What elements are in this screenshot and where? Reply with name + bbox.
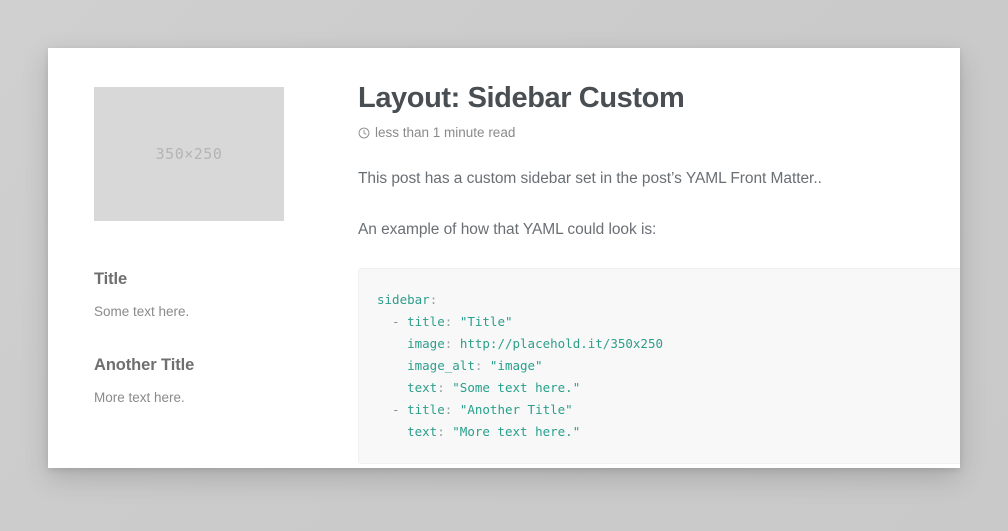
code-line: image_alt: "image" — [377, 355, 960, 377]
sidebar-image-placeholder-label: 350×250 — [156, 145, 223, 163]
code-token-dash: - — [377, 402, 407, 417]
code-token-key: title — [407, 402, 445, 417]
sidebar-block-text: More text here. — [94, 388, 304, 408]
code-line: - title: "Title" — [377, 311, 960, 333]
code-line: text: "Some text here." — [377, 377, 960, 399]
code-token-punct: : — [475, 358, 490, 373]
code-block: sidebar: - title: "Title" image: http://… — [358, 268, 960, 464]
code-token-dash: - — [377, 314, 407, 329]
code-token-string: "Another Title" — [460, 402, 573, 417]
code-token-dash — [377, 424, 407, 439]
article-meta: less than 1 minute read — [358, 125, 960, 140]
code-line: text: "More text here." — [377, 421, 960, 443]
code-token-dash — [377, 380, 407, 395]
code-token-string: "Title" — [460, 314, 513, 329]
code-token-dash — [377, 336, 407, 351]
code-token-key: sidebar — [377, 292, 430, 307]
code-line: image: http://placehold.it/350x250 — [377, 333, 960, 355]
page-content: 350×250 Title Some text here. Another Ti… — [48, 48, 960, 468]
page-title: Layout: Sidebar Custom — [358, 80, 960, 116]
code-token-plain: http://placehold.it/350x250 — [460, 336, 663, 351]
code-token-key: text — [407, 380, 437, 395]
sidebar-block-title: Another Title — [94, 356, 304, 376]
sidebar-block-1: Another Title More text here. — [94, 356, 304, 408]
code-token-punct: : — [445, 336, 460, 351]
article-paragraph-0: This post has a custom sidebar set in th… — [358, 167, 960, 191]
article: Layout: Sidebar Custom less than 1 minut… — [358, 80, 960, 464]
sidebar-block-title: Title — [94, 270, 304, 290]
code-token-punct: : — [445, 402, 460, 417]
custom-sidebar: 350×250 Title Some text here. Another Ti… — [94, 87, 304, 408]
sidebar-image-placeholder: 350×250 — [94, 87, 284, 221]
clock-icon — [358, 127, 370, 139]
page-card: 350×250 Title Some text here. Another Ti… — [48, 48, 960, 468]
code-token-key: image_alt — [407, 358, 475, 373]
code-line: - title: "Another Title" — [377, 399, 960, 421]
code-token-string: "Some text here." — [452, 380, 580, 395]
code-token-key: text — [407, 424, 437, 439]
code-token-dash — [377, 358, 407, 373]
code-token-punct: : — [437, 380, 452, 395]
code-token-string: "More text here." — [452, 424, 580, 439]
code-token-key: image — [407, 336, 445, 351]
code-token-punct: : — [430, 292, 438, 307]
read-time-label: less than 1 minute read — [375, 125, 515, 140]
article-paragraph-1: An example of how that YAML could look i… — [358, 218, 960, 242]
sidebar-block-text: Some text here. — [94, 302, 304, 322]
code-block-content[interactable]: sidebar: - title: "Title" image: http://… — [377, 289, 960, 443]
sidebar-block-0: Title Some text here. — [94, 270, 304, 322]
code-line: sidebar: — [377, 289, 960, 311]
code-token-punct: : — [445, 314, 460, 329]
code-token-string: "image" — [490, 358, 543, 373]
code-token-key: title — [407, 314, 445, 329]
code-token-punct: : — [437, 424, 452, 439]
